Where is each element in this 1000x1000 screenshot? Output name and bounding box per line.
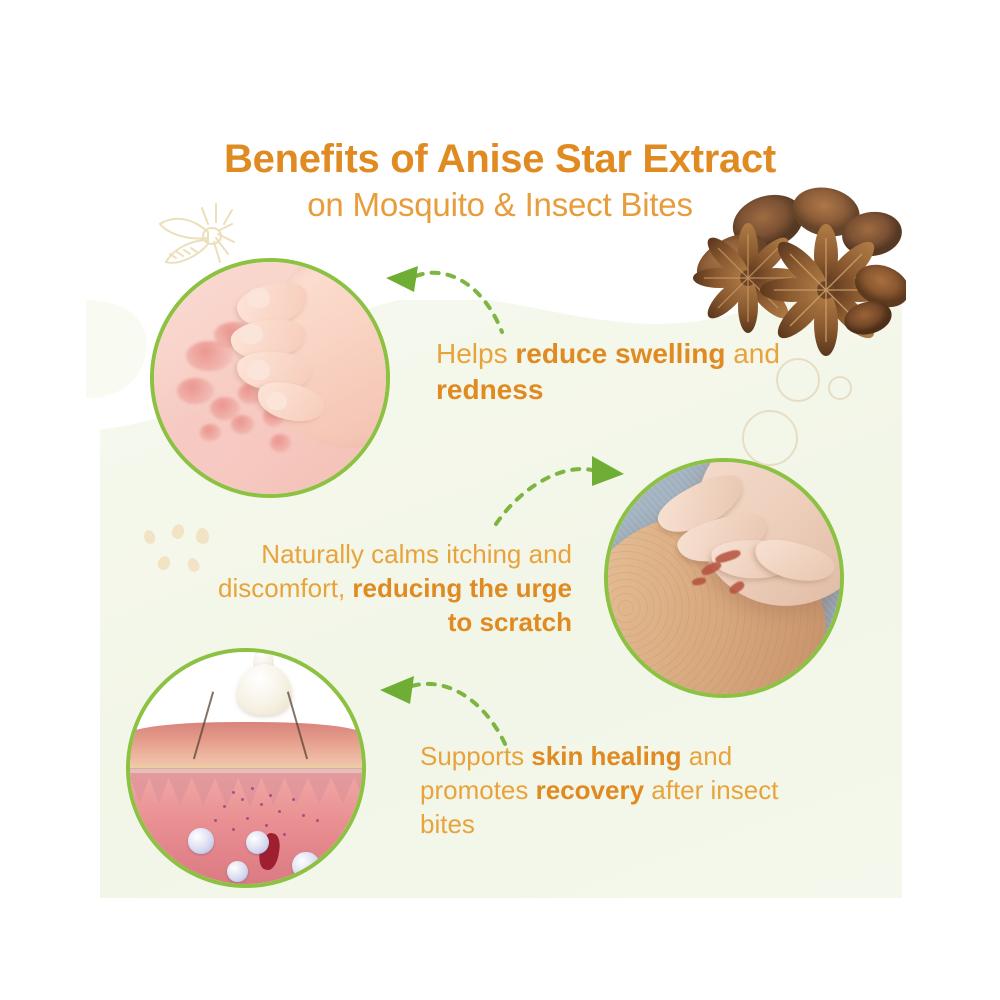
arm-scratching-photo — [608, 462, 840, 694]
benefit-image-baby-skin-rash — [150, 258, 390, 498]
benefit-text-calms-itching: Naturally calms itching and discomfort, … — [196, 538, 572, 639]
benefit-plain: Supports — [420, 741, 531, 771]
benefit-plain: Helps — [436, 338, 515, 369]
benefit-emphasis: redness — [436, 374, 543, 405]
benefit-emphasis: reducing the urge to scratch — [352, 573, 572, 637]
benefit-image-arm-scratching — [604, 458, 844, 698]
infographic-canvas: Benefits of Anise Star Extract on Mosqui… — [0, 0, 1000, 1000]
baby-skin-rash-photo — [154, 262, 386, 494]
benefit-plain: and — [725, 338, 780, 369]
benefit-text-skin-healing: Supports skin healing and promotes recov… — [420, 740, 812, 841]
benefit-emphasis: reduce swelling — [515, 338, 725, 369]
page-title: Benefits of Anise Star Extract on Mosqui… — [0, 138, 1000, 226]
skin-cross-section-illustration — [130, 652, 362, 884]
arrow-to-rash-photo — [376, 252, 516, 338]
arrow-to-scratch-photo — [488, 452, 634, 544]
benefit-emphasis: recovery — [536, 775, 644, 805]
benefit-text-reduce-swelling: Helps reduce swelling and redness — [436, 336, 796, 409]
title-line-1: Benefits of Anise Star Extract — [0, 138, 1000, 180]
benefit-image-skin-cross-section — [126, 648, 366, 888]
benefit-emphasis: skin healing — [531, 741, 681, 771]
title-line-2: on Mosquito & Insect Bites — [0, 184, 1000, 225]
